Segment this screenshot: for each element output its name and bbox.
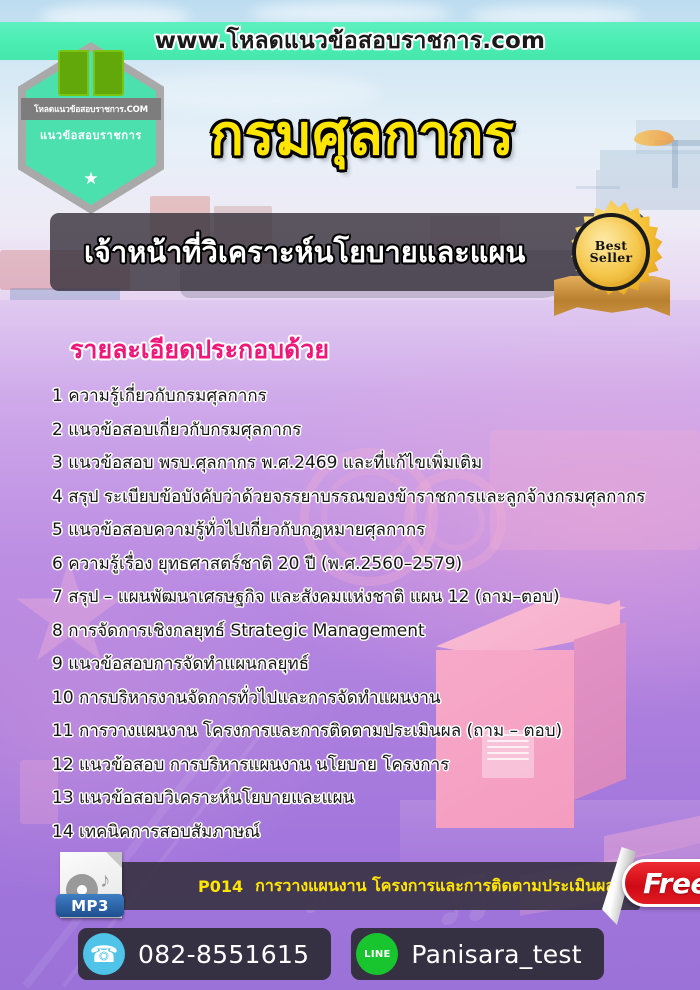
section-heading: รายละเอียดประกอบด้วย [70, 330, 329, 370]
mp3-label: MP3 [71, 897, 109, 915]
list-item: 11 การวางแผนงาน โครงการและการติดตามประเม… [52, 715, 700, 749]
best-seller-badge: Best Seller [548, 198, 674, 324]
free-pill: Free [622, 859, 700, 907]
crane-shape [576, 186, 620, 189]
list-item: 9 แนวข้อสอบการจัดทำแผนกลยุทธ์ [52, 648, 700, 682]
list-item: 2 แนวข้อสอบเกี่ยวกับกรมศุลกากร [52, 414, 700, 448]
list-item: 8 การจัดการเชิงกลยุทธ์ Strategic Managem… [52, 615, 700, 649]
mp3-file-icon: ♪ MP3 [60, 852, 122, 918]
logo-subtitle: แนวข้อสอบราชการ [18, 126, 164, 144]
mp3-code: P014 [198, 877, 243, 896]
phone-chip[interactable]: ☎ 082-8551615 [78, 928, 331, 980]
line-icon-label: LINE [364, 949, 391, 960]
mp3-description: การวางแผนงาน โครงการและการติดตามประเมินผ… [255, 874, 615, 899]
list-item: 12 แนวข้อสอบ การบริหารแผนงาน นโยบาย โครง… [52, 749, 700, 783]
mp3-label-pill: MP3 [56, 894, 124, 917]
contact-row: ☎ 082-8551615 LINE Panisara_test [78, 928, 604, 980]
list-item: 7 สรุป – แผนพัฒนาเศรษฐกิจ และสังคมแห่งชา… [52, 581, 700, 615]
list-item: 13 แนวข้อสอบวิเคราะห์นโยบายและแผน [52, 782, 700, 816]
poster-canvas: ♫ ♪ www.โหลดแนวข้อสอบราชการ.com โหลดแนวข… [0, 0, 700, 990]
phone-icon: ☎ [83, 933, 125, 975]
badge-core: Best Seller [581, 222, 641, 282]
open-book-icon [58, 50, 124, 96]
free-label: Free [643, 867, 700, 900]
list-item: 5 แนวข้อสอบความรู้ทั่วไปเกี่ยวกับกฎหมายศ… [52, 514, 700, 548]
cloud-shape [250, 2, 450, 24]
position-title: เจ้าหน้าที่วิเคราะห์นโยบายและแผน [84, 229, 525, 275]
logo-band-text: โหลดแนวข้อสอบราชการ.COM [34, 102, 148, 116]
list-item: 3 แนวข้อสอบ พรบ.ศุลกากร พ.ศ.2469 และที่แ… [52, 447, 700, 481]
mp3-description-bar: P014 การวางแผนงาน โครงการและการติดตามประ… [110, 862, 640, 910]
list-item: 1 ความรู้เกี่ยวกับกรมศุลกากร [52, 380, 700, 414]
line-id: Panisara_test [411, 940, 581, 969]
list-item: 6 ความรู้เรื่อง ยุทธศาสตร์ชาติ 20 ปี (พ.… [52, 548, 700, 582]
list-item: 10 การบริหารงานจัดการทั่วไปและการจัดทำแผ… [52, 682, 700, 716]
logo-band: โหลดแนวข้อสอบราชการ.COM [21, 98, 161, 120]
star-icon: ★ [18, 170, 164, 187]
badge-line-2: Seller [590, 252, 633, 265]
line-chip[interactable]: LINE Panisara_test [351, 928, 603, 980]
phone-number: 082-8551615 [138, 940, 309, 969]
mp3-bonus-row: P014 การวางแผนงาน โครงการและการติดตามประ… [52, 850, 672, 920]
list-item: 14 เทคนิคการสอบสัมภาษณ์ [52, 816, 700, 850]
free-tag: Free [580, 847, 700, 925]
content-list: 1 ความรู้เกี่ยวกับกรมศุลกากร 2 แนวข้อสอบ… [52, 380, 700, 849]
brand-logo-badge: โหลดแนวข้อสอบราชการ.COM แนวข้อสอบราชการ … [18, 42, 164, 214]
music-note-icon: ♪ [100, 870, 111, 891]
list-item: 4 สรุป ระเบียบข้อบังคับว่าด้วยจรรยาบรรณข… [52, 481, 700, 515]
line-icon: LINE [356, 933, 398, 975]
page-title: กรมศุลกากร [210, 96, 690, 172]
